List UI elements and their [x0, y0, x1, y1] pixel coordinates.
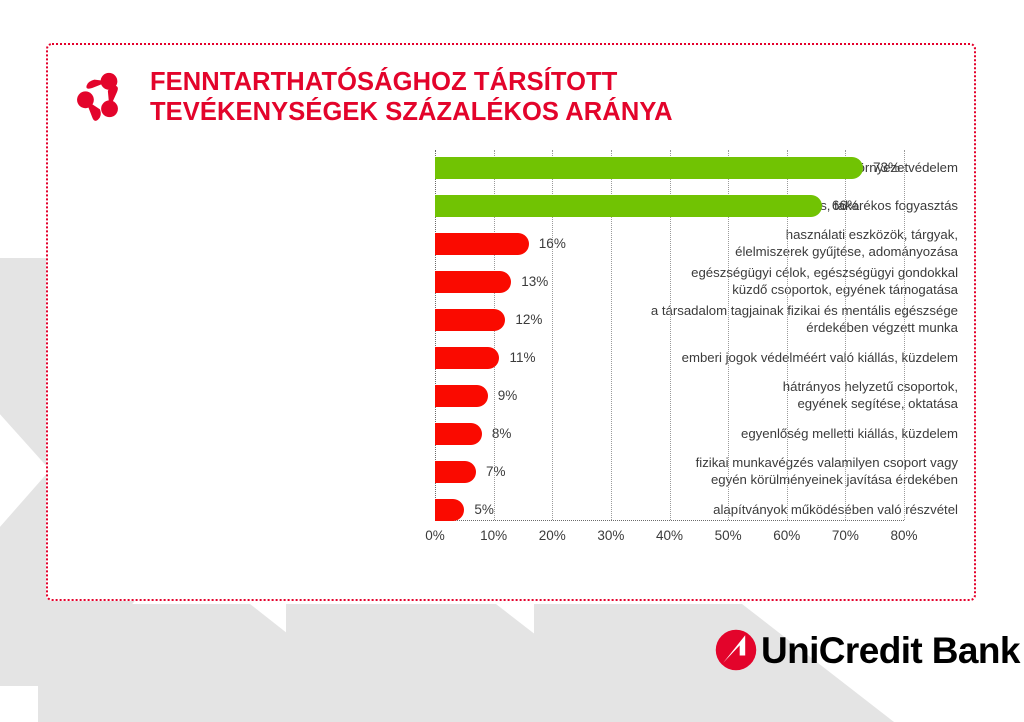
x-axis-tick-label: 40%	[656, 528, 683, 543]
bar-value-label: 11%	[509, 347, 535, 369]
bar-value-label: 5%	[474, 499, 494, 521]
x-axis-tick-label: 10%	[480, 528, 507, 543]
x-axis-baseline	[435, 520, 904, 521]
bar-value-label: 16%	[539, 233, 566, 255]
unicredit-logo: UniCredit Bank	[713, 627, 1020, 673]
bar	[435, 271, 511, 293]
gridline	[904, 150, 905, 520]
bar-value-label: 13%	[521, 271, 548, 293]
x-axis-tick-label: 80%	[890, 528, 917, 543]
unicredit-logo-text: UniCredit Bank	[761, 632, 1020, 669]
bar	[435, 385, 488, 407]
bar	[435, 157, 863, 179]
sustainability-triskelion-icon	[72, 69, 128, 125]
x-axis-tick-label: 30%	[597, 528, 624, 543]
page-title: FENNTARTHATÓSÁGHOZ TÁRSÍTOTT TEVÉKENYSÉG…	[150, 65, 673, 127]
bar-value-label: 7%	[486, 461, 506, 483]
infographic-card: FENNTARTHATÓSÁGHOZ TÁRSÍTOTT TEVÉKENYSÉG…	[46, 43, 976, 601]
bar	[435, 309, 505, 331]
bar-value-label: 9%	[498, 385, 518, 407]
plot-area: 73%66%16%13%12%11%9%8%7%5% 0%10%20%30%40…	[435, 150, 905, 550]
x-axis-tick-label: 0%	[425, 528, 445, 543]
bar	[435, 233, 529, 255]
bar	[435, 499, 464, 521]
x-axis-tick-label: 60%	[773, 528, 800, 543]
bar-chart: környezetvédelemtudatos, takarékos fogya…	[48, 150, 978, 600]
bar	[435, 195, 822, 217]
bar-value-label: 73%	[873, 157, 900, 179]
bar	[435, 347, 499, 369]
bar-value-label: 12%	[515, 309, 542, 331]
bar	[435, 461, 476, 483]
chart-header: FENNTARTHATÓSÁGHOZ TÁRSÍTOTT TEVÉKENYSÉG…	[72, 65, 673, 127]
x-axis-tick-label: 70%	[832, 528, 859, 543]
x-axis-tick-label: 50%	[715, 528, 742, 543]
x-axis-tick-label: 20%	[539, 528, 566, 543]
bar-value-label: 8%	[492, 423, 512, 445]
unicredit-logo-icon	[713, 627, 759, 673]
bar-value-label: 66%	[832, 195, 859, 217]
plot-wrapper: környezetvédelemtudatos, takarékos fogya…	[78, 150, 958, 600]
bar	[435, 423, 482, 445]
